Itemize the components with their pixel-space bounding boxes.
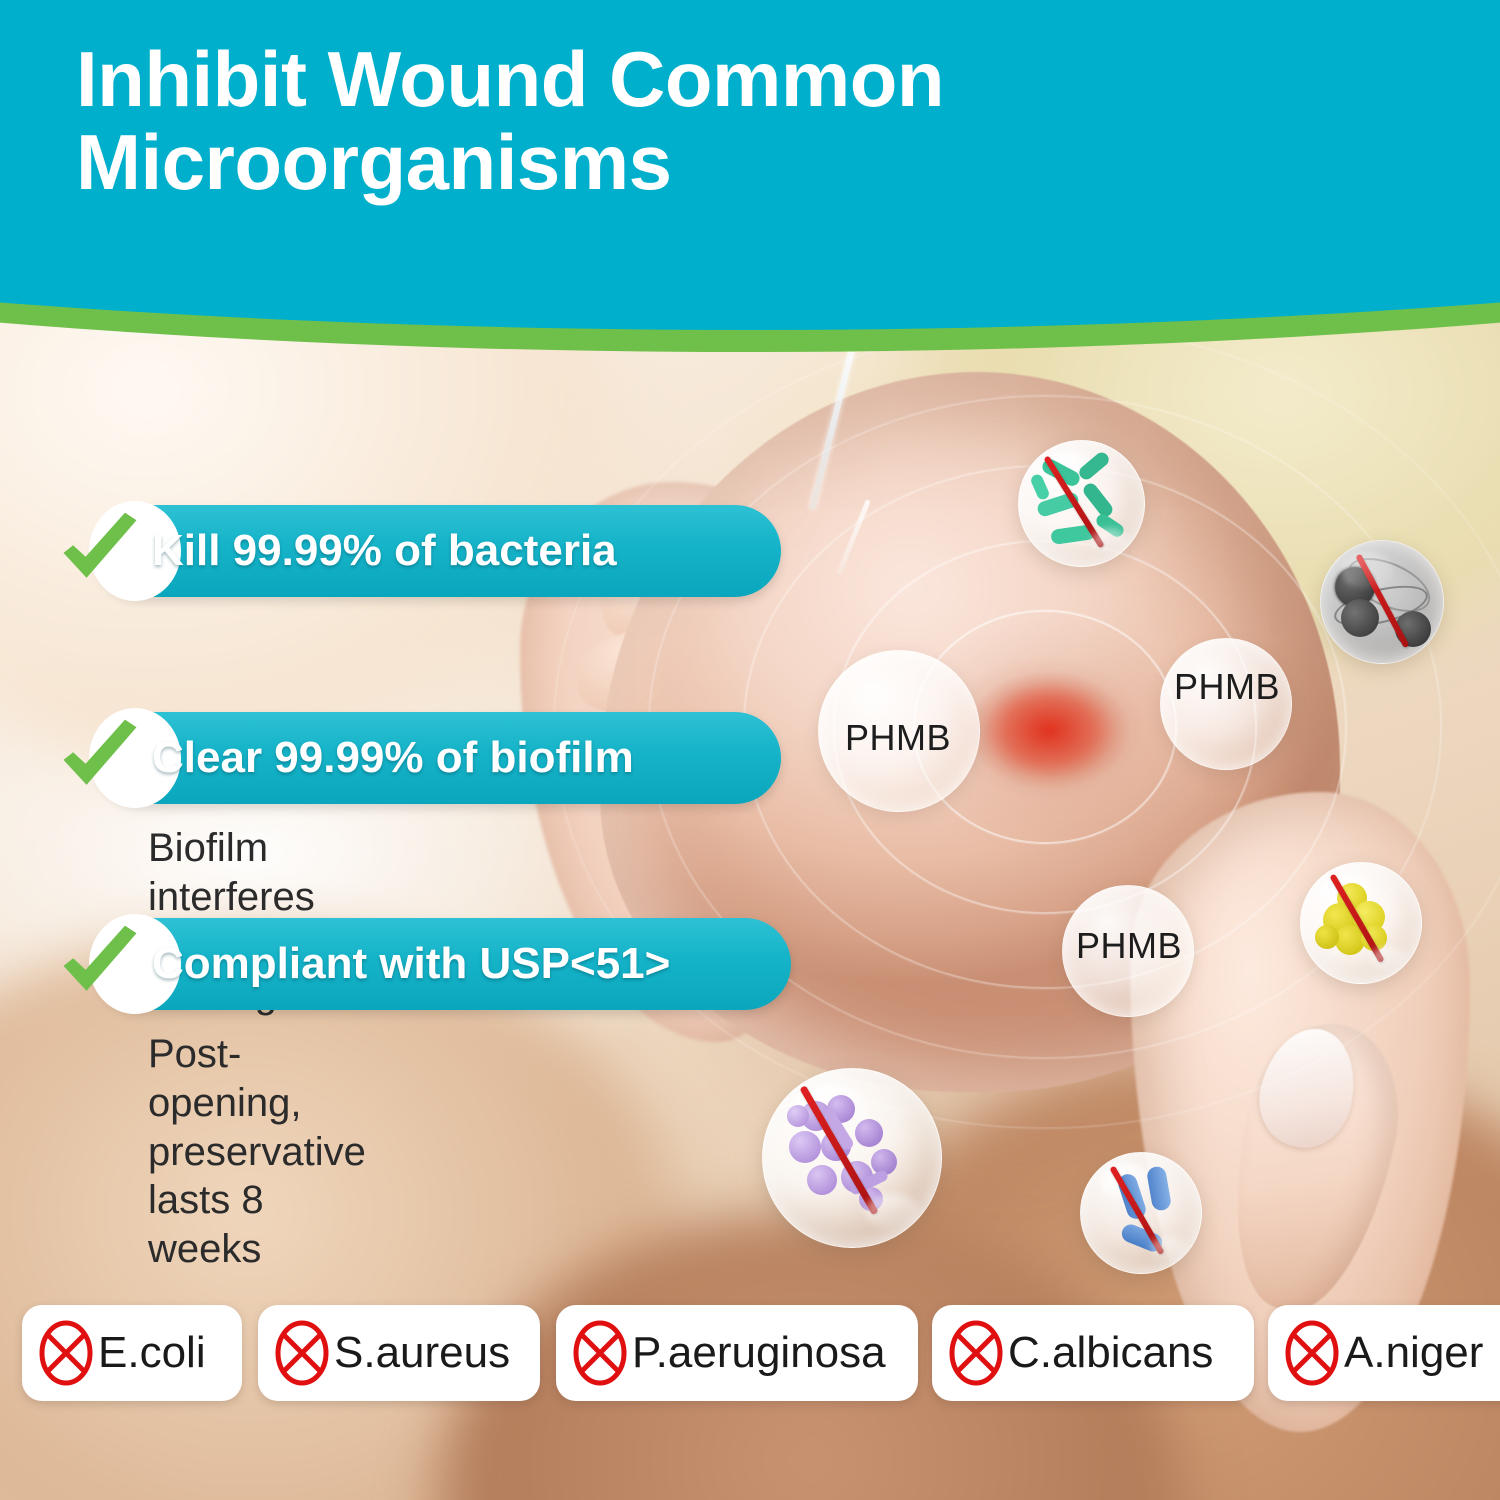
green-rod-4 xyxy=(1081,481,1115,520)
purple-cell-3 xyxy=(789,1131,821,1163)
blue-rod-2 xyxy=(1146,1165,1172,1212)
feature-label-3: Compliant with USP<51> xyxy=(152,918,670,1010)
bubble-yellow-cocci-cluster xyxy=(1300,862,1422,984)
pathogen-label: P.aeruginosa xyxy=(632,1328,886,1378)
phmb-label-upper-right: PHMB xyxy=(1174,666,1280,708)
bubble-blue-rod-bacteria xyxy=(1080,1152,1202,1274)
green-check-icon xyxy=(52,916,148,1012)
feature-label-1: Kill 99.99% of bacteria xyxy=(152,505,617,597)
bubble-highlight xyxy=(1341,552,1395,589)
pathogen-chip-aniger[interactable]: A.niger xyxy=(1268,1305,1500,1401)
page-title: Inhibit Wound Common Microorganisms xyxy=(76,38,1276,203)
pathogen-chip-paeruginosa[interactable]: P.aeruginosa xyxy=(556,1305,918,1401)
purple-cell-9 xyxy=(787,1105,809,1127)
bubble-black-mold-spores xyxy=(1320,540,1444,664)
pathogen-label: E.coli xyxy=(98,1328,206,1378)
purple-cell-6 xyxy=(807,1165,837,1195)
no-entry-x-icon xyxy=(274,1320,330,1386)
bubble-highlight-2 xyxy=(1371,947,1407,971)
phmb-label-left: PHMB xyxy=(845,717,951,759)
pathogen-chip-saureus[interactable]: S.aureus xyxy=(258,1305,540,1401)
bubble-green-rod-bacteria xyxy=(1018,440,1145,567)
pathogen-label: S.aureus xyxy=(334,1328,510,1378)
product-infographic: Inhibit Wound Common Microorganisms xyxy=(0,0,1500,1500)
pathogen-label: C.albicans xyxy=(1008,1328,1213,1378)
yellow-cell-6 xyxy=(1315,925,1339,949)
title-line-1: Inhibit Wound Common xyxy=(76,38,1276,121)
pathogen-chip-ecoli[interactable]: E.coli xyxy=(22,1305,242,1401)
purple-cell-5 xyxy=(855,1119,883,1147)
feature-label-2: Clear 99.99% of biofilm xyxy=(152,712,634,804)
pathogen-label: A.niger xyxy=(1344,1328,1483,1378)
bubble-purple-staph-cluster xyxy=(762,1068,942,1248)
phmb-label-lower: PHMB xyxy=(1076,925,1182,967)
green-check-icon xyxy=(52,503,148,599)
mold-spore-head-2 xyxy=(1341,599,1379,637)
no-entry-x-icon xyxy=(1284,1320,1340,1386)
pathogen-chip-calbicans[interactable]: C.albicans xyxy=(932,1305,1254,1401)
no-entry-x-icon xyxy=(948,1320,1004,1386)
bubble-highlight-2 xyxy=(1151,1237,1187,1261)
bubble-highlight-2 xyxy=(1092,529,1130,554)
bubble-highlight-2 xyxy=(866,1194,919,1230)
title-line-2: Microorganisms xyxy=(76,121,1276,204)
feature-sub-3: Post-opening, preservative lasts 8 weeks xyxy=(148,1030,366,1274)
no-entry-x-icon xyxy=(38,1320,94,1386)
green-check-icon xyxy=(52,710,148,806)
no-entry-x-icon xyxy=(572,1320,628,1386)
